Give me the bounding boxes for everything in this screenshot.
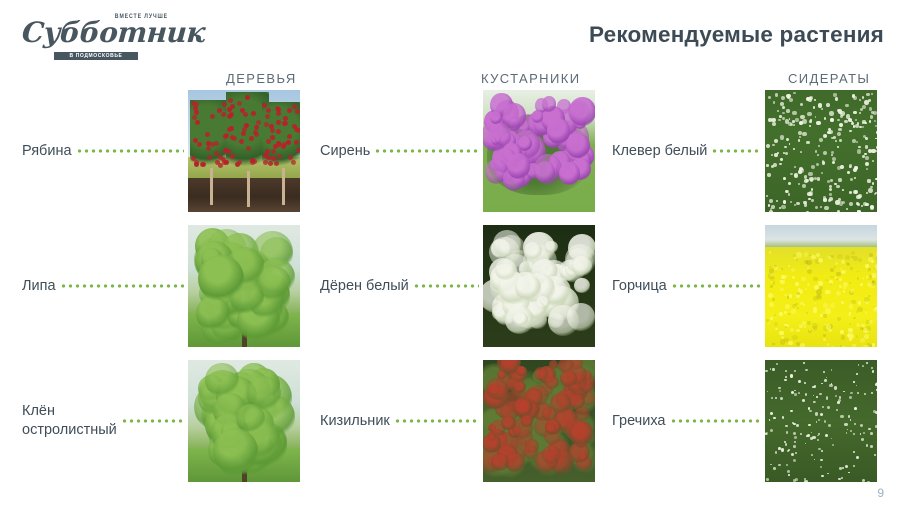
photo-texture [805,369,807,371]
photo-texture [850,392,852,394]
photo-texture [830,179,833,182]
photo-texture [820,466,822,468]
photo-texture [205,132,210,137]
photo-texture [772,122,776,126]
photo-texture [813,296,818,301]
photo-texture [865,162,869,166]
photo-texture [513,312,529,327]
photo-texture [217,108,222,113]
photo-texture [794,436,797,439]
photo-texture [236,404,264,433]
photo-texture [806,141,810,145]
photo-texture [852,139,856,143]
photo-texture [780,135,784,139]
photo-texture [816,121,820,125]
page-number: 9 [877,486,884,500]
photo-texture [815,206,818,209]
photo-texture [837,146,839,148]
plant-cell-mustard: Горчица [612,225,877,347]
photo-texture [844,120,847,123]
photo-texture [784,379,786,381]
photo-texture [773,467,776,470]
page-title: Рекомендуемые растения [589,22,884,48]
photo-texture [838,128,842,132]
photo-texture [787,296,789,298]
photo-texture [795,452,797,454]
photo-texture [804,175,807,178]
photo-texture [785,119,789,123]
photo-texture [786,138,789,141]
photo-texture [869,120,871,122]
photo-texture [870,115,874,119]
photo-texture [831,346,834,347]
mustard-photo [765,225,877,347]
photo-texture [862,479,865,482]
photo-texture [227,127,232,132]
photo-texture [569,97,595,126]
photo-texture [836,185,840,189]
photo-texture [789,294,792,297]
photo-texture [806,211,809,212]
photo-texture [838,399,841,402]
photo-texture [811,454,813,456]
photo-texture [501,416,516,430]
plant-label-white-clover: Клевер белый [612,142,707,161]
photo-texture [857,277,859,279]
photo-texture [778,447,781,450]
photo-texture [287,108,292,113]
photo-texture [545,423,556,434]
photo-texture [542,445,561,464]
photo-texture [870,445,873,448]
photo-texture [560,370,577,386]
photo-texture [851,300,856,305]
photo-texture [264,122,269,127]
photo-texture [804,480,807,482]
dotted-connector-icon [670,419,762,423]
photo-texture [872,273,876,277]
photo-texture [780,280,782,282]
photo-texture [205,363,239,398]
photo-texture [809,125,811,127]
photo-texture [823,371,825,373]
photo-texture [237,101,242,106]
photo-texture [826,397,828,399]
photo-texture [857,392,858,393]
photo-texture [772,144,775,147]
photo-texture [815,412,818,415]
photo-texture [503,103,527,129]
photo-texture [816,253,820,257]
photo-texture [811,199,814,202]
photo-texture [840,415,843,418]
photo-texture [786,324,789,327]
photo-texture [839,201,844,205]
photo-texture [849,164,853,168]
photo-texture [852,344,856,347]
photo-texture [807,192,811,196]
photo-texture [765,370,767,372]
photo-texture [858,146,861,148]
photo-texture [781,448,784,451]
photo-texture [858,301,862,304]
plant-cell-white-clover: Клевер белый [612,90,877,212]
photo-texture [876,256,877,261]
buckwheat-photo [765,360,877,482]
photo-texture [781,96,785,100]
photo-texture [851,256,854,259]
photo-texture [524,242,542,259]
photo-texture [823,338,826,341]
plant-label-white-dogwood: Дёрен белый [320,277,409,296]
plant-cell-buckwheat: Гречиха [612,360,877,482]
photo-texture [816,396,818,398]
photo-texture [821,108,823,110]
column-header-trees: ДЕРЕВЬЯ [226,71,297,86]
photo-texture [833,136,836,139]
photo-texture [839,285,842,288]
photo-texture [801,277,805,281]
photo-texture [198,255,243,302]
plant-label-cotoneaster: Кизильник [320,412,390,431]
photo-texture [559,162,580,185]
photo-texture [847,263,850,266]
photo-texture [794,370,796,372]
photo-texture [262,103,267,108]
photo-texture [868,320,873,325]
photo-texture [817,154,819,156]
photo-texture [793,479,796,482]
photo-texture [275,106,280,111]
photo-texture [781,275,785,279]
plant-label-linden: Липа [22,277,56,296]
photo-texture [841,335,846,339]
plant-label-lilac: Сирень [320,142,370,161]
photo-texture [843,287,846,289]
photo-texture [535,161,555,183]
photo-texture [859,126,861,128]
photo-texture [837,109,840,112]
photo-texture [239,139,244,144]
photo-texture [857,307,862,312]
photo-texture [770,464,772,465]
photo-texture [811,255,816,260]
photo-texture [875,383,877,386]
photo-texture [214,151,219,156]
photo-texture [191,156,196,161]
photo-texture [798,183,800,185]
dotted-connector-icon [394,419,479,423]
photo-texture [794,166,796,168]
photo-texture [828,424,831,427]
photo-texture [296,148,300,153]
photo-texture [218,163,223,168]
photo-texture [769,302,775,307]
photo-texture [774,153,778,157]
photo-texture [788,341,793,346]
photo-texture [771,397,773,399]
photo-texture [872,343,876,347]
photo-texture [792,111,797,116]
photo-texture [794,390,796,392]
photo-texture [823,314,827,318]
photo-texture [818,258,823,263]
photo-texture [807,112,812,116]
photo-texture [808,198,810,200]
photo-texture [868,99,871,102]
photo-texture [796,252,802,257]
photo-texture [240,108,245,113]
plant-label-maple: Клён остролистный [22,402,117,440]
photo-texture [837,119,839,121]
photo-texture [772,368,774,370]
plant-cell-maple: Клён остролистный [22,360,300,482]
photo-texture [295,109,300,114]
photo-texture [829,111,833,115]
photo-texture [865,156,869,160]
photo-texture [815,150,817,152]
photo-texture [210,168,213,205]
photo-texture [799,324,803,328]
photo-texture [830,276,832,278]
photo-texture [771,154,773,156]
photo-texture [799,168,803,172]
photo-texture [549,360,558,369]
photo-texture [778,387,780,389]
photo-texture [844,423,847,426]
photo-texture [826,324,831,329]
photo-texture [850,430,852,432]
photo-texture [213,428,258,475]
photo-texture [835,277,837,279]
photo-texture [807,321,811,325]
photo-texture [797,307,799,309]
cotoneaster-photo [483,360,595,482]
photo-texture [808,407,810,409]
photo-texture [793,92,795,94]
photo-texture [874,193,876,195]
photo-texture [283,116,288,121]
photo-texture [780,397,783,400]
photo-texture [251,111,256,116]
photo-texture [767,173,770,176]
photo-texture [873,306,875,308]
photo-texture [515,275,541,300]
photo-texture [813,277,817,281]
photo-texture [823,151,827,155]
photo-texture [807,434,810,437]
photo-texture [545,376,558,389]
photo-texture [768,118,772,122]
photo-texture [786,190,789,193]
photo-texture [812,436,815,439]
photo-texture [793,445,796,448]
photo-texture [794,174,797,177]
photo-texture [494,127,511,145]
photo-texture [847,334,850,337]
photo-texture [864,334,869,339]
photo-texture [578,452,588,461]
photo-texture [875,178,877,180]
photo-texture [265,114,270,119]
photo-texture [807,269,812,274]
photo-texture [770,285,773,288]
photo-texture [235,162,240,167]
photo-texture [862,365,864,367]
dotted-connector-icon [671,284,761,288]
photo-texture [851,251,854,254]
photo-texture [837,210,840,212]
photo-texture [521,415,532,426]
photo-texture [842,346,845,347]
photo-texture [831,154,833,156]
photo-texture [823,134,827,138]
photo-texture [798,380,801,383]
photo-texture [836,409,838,411]
photo-texture [859,99,861,101]
photo-texture [876,146,877,149]
photo-texture [486,378,508,400]
photo-texture [798,392,800,394]
photo-texture [774,266,777,269]
photo-texture [532,110,544,123]
photo-texture [268,161,273,166]
photo-texture [856,195,860,199]
photo-texture [773,101,775,103]
photo-texture [800,343,805,347]
photo-texture [841,270,846,275]
photo-texture [777,110,779,112]
photo-texture [201,162,206,167]
photo-texture [796,329,799,332]
photo-texture [795,478,798,481]
photo-texture [294,140,299,145]
photo-texture [872,182,874,184]
photo-texture [823,303,827,307]
photo-texture [826,103,830,107]
column-header-shrubs: КУСТАРНИКИ [481,71,580,86]
photo-texture [825,290,829,294]
photo-texture [772,298,775,301]
photo-texture [825,308,830,313]
photo-texture [495,259,516,280]
photo-texture [862,96,864,98]
photo-texture [820,459,822,461]
photo-texture [850,267,853,270]
lilac-photo [483,90,595,212]
photo-texture [821,475,824,478]
photo-texture [817,439,818,440]
photo-texture [819,138,823,142]
rowan-photo [188,90,300,212]
photo-texture [245,95,250,100]
photo-texture [867,343,869,345]
plant-cell-lilac: Сирень [320,90,595,212]
photo-texture [841,301,844,304]
photo-texture [838,478,840,480]
photo-texture [765,433,767,435]
photo-texture [779,390,781,392]
photo-texture [832,276,834,278]
photo-texture [771,281,773,283]
photo-texture [845,255,850,260]
photo-texture [820,413,823,416]
photo-texture [230,154,235,159]
photo-texture [823,198,826,201]
photo-texture [817,177,821,181]
photo-texture [791,453,794,456]
photo-texture [856,385,857,386]
photo-texture [876,389,877,390]
photo-texture [825,279,828,281]
photo-texture [249,136,254,141]
photo-texture [785,425,788,428]
photo-texture [832,444,834,446]
photo-texture [869,107,872,110]
photo-texture [276,120,281,125]
photo-texture [856,335,859,337]
plant-cell-linden: Липа [22,225,300,347]
photo-texture [566,133,589,158]
dotted-connector-icon [374,149,479,153]
plant-label-mustard: Горчица [612,277,667,296]
photo-texture [769,419,770,420]
photo-texture [780,158,783,160]
photo-texture [783,177,786,180]
photo-texture [835,395,837,397]
photo-texture [849,323,851,325]
photo-texture [513,398,533,418]
photo-texture [766,164,768,166]
photo-texture [795,118,798,121]
white-dogwood-photo [483,225,595,347]
photo-texture [858,364,860,366]
photo-texture [875,425,877,428]
photo-texture [222,102,227,107]
photo-texture [768,96,771,99]
photo-texture [792,276,795,279]
photo-texture [779,312,783,316]
photo-texture [782,106,785,109]
photo-texture [818,103,822,107]
maple-photo [188,360,300,482]
photo-texture [837,254,843,259]
photo-texture [835,140,837,142]
photo-texture [863,345,867,347]
brand-tagline-bottom: В ПОДМОСКОВЬЕ [54,52,138,60]
photo-texture [865,145,868,148]
dotted-connector-icon [76,149,184,153]
photo-texture [788,193,790,195]
photo-texture [800,151,802,153]
photo-texture [794,393,797,396]
photo-texture [861,324,865,328]
photo-texture [868,188,872,192]
photo-texture [241,131,246,136]
photo-texture [876,150,877,152]
photo-texture [851,122,854,125]
photo-texture [824,117,826,119]
photo-texture [291,160,296,165]
photo-texture [830,283,832,285]
plant-cell-cotoneaster: Кизильник [320,360,595,482]
photo-texture [861,438,864,441]
dotted-connector-icon [60,284,184,288]
photo-texture [247,171,250,208]
photo-texture [876,131,877,134]
photo-texture [790,328,794,332]
photo-texture [830,303,835,308]
